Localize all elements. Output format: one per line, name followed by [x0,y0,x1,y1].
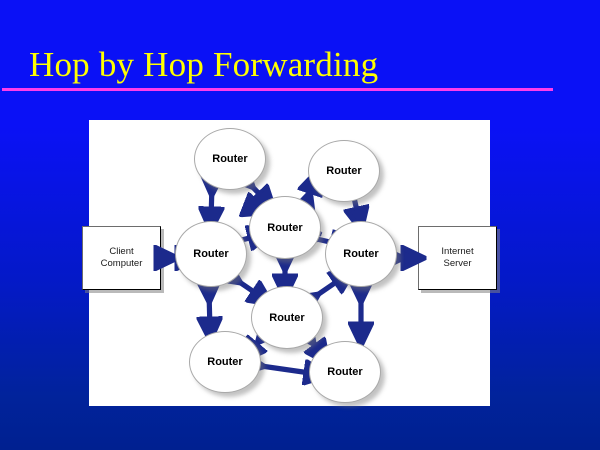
slide-canvas: Hop by Hop Forwarding [0,0,600,450]
link-topleft-to-midleft [211,185,212,220]
link-bottomleft-to-bottomright [254,365,317,374]
router-label: Router [343,248,378,260]
link-arrows-layer [89,120,490,406]
page-title: Hop by Hop Forwarding [29,44,378,86]
router-label: Router [207,356,242,368]
router-node-mid-right[interactable]: Router [325,221,397,287]
router-label: Router [327,366,362,378]
link-midleft-to-bottomcenter [232,277,263,298]
title-underline-rule [2,88,553,91]
router-node-bottom-left[interactable]: Router [189,331,261,393]
router-label: Router [193,248,228,260]
network-topology-diagram: Client Computer Internet Server Router R… [89,120,490,406]
router-label: Router [267,222,302,234]
router-label: Router [212,153,247,165]
link-midleft-to-bottomleft [209,292,210,330]
router-node-mid-left[interactable]: Router [175,221,247,287]
router-node-top-right[interactable]: Router [308,140,380,202]
router-node-bottom-right[interactable]: Router [309,341,381,403]
router-node-center[interactable]: Router [249,196,321,259]
router-node-bottom-center[interactable]: Router [251,286,323,349]
router-label: Router [326,165,361,177]
diagram-panel: Client Computer Internet Server Router R… [89,120,490,406]
router-node-top-left[interactable]: Router [194,128,266,190]
router-label: Router [269,312,304,324]
